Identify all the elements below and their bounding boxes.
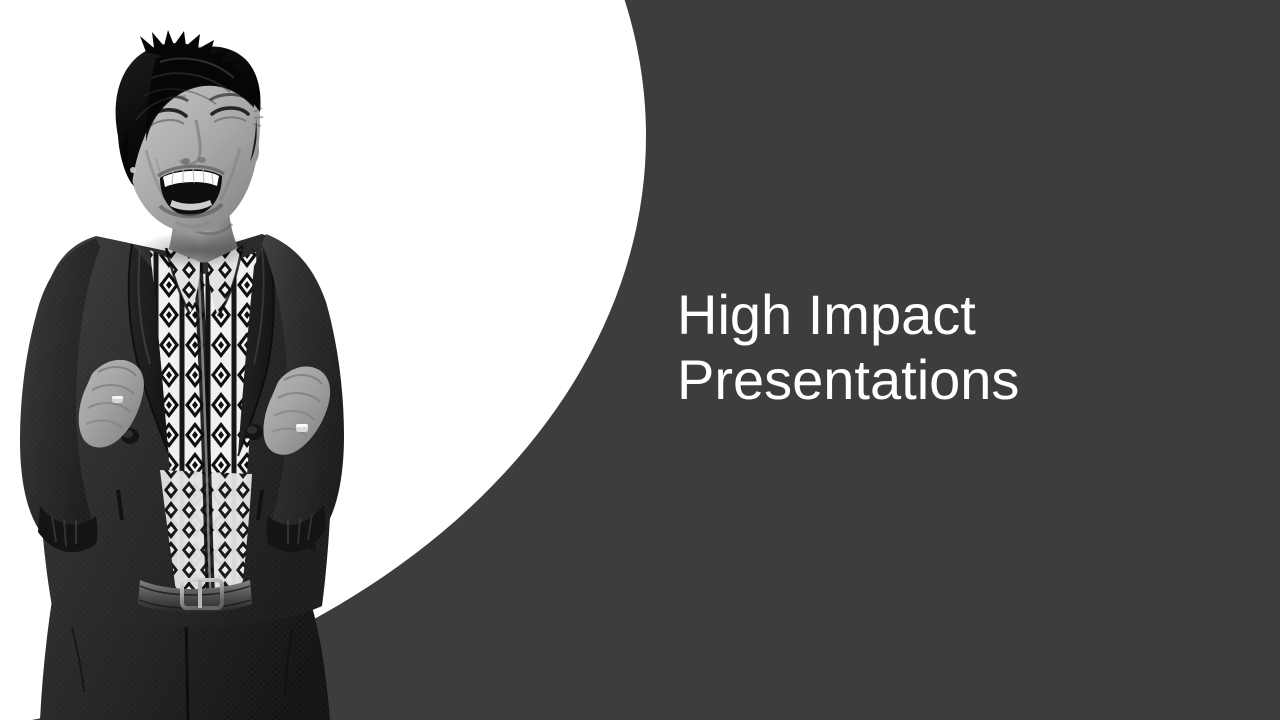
presentation-slide: High Impact Presentations <box>0 0 1280 720</box>
slide-title-line-2: Presentations <box>677 347 1197 412</box>
slide-title: High Impact Presentations <box>677 282 1197 412</box>
presenter-photo <box>0 0 380 720</box>
slide-title-line-1: High Impact <box>677 282 1197 347</box>
